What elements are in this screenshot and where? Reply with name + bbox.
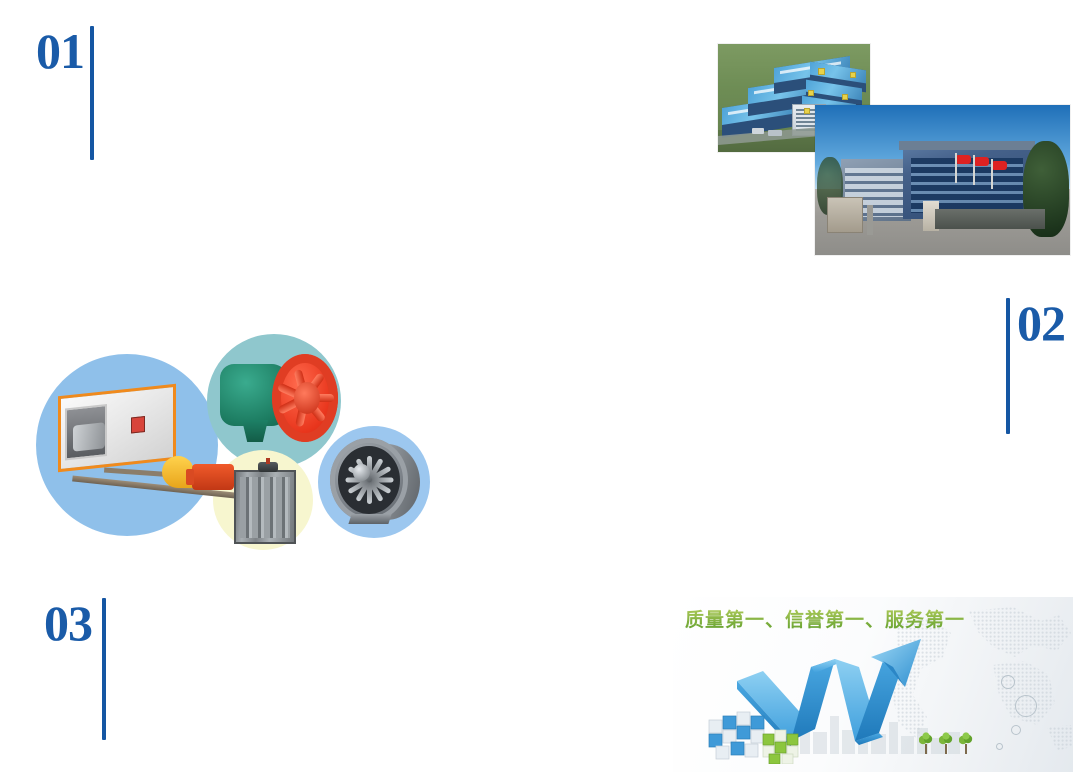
product-box-type-centrifugal-fan bbox=[44, 372, 214, 512]
render-tank-5 bbox=[804, 108, 810, 114]
render-tank-3 bbox=[808, 90, 814, 96]
tree-icon-1 bbox=[919, 732, 933, 754]
photo-lamp-post bbox=[867, 205, 873, 235]
damper-actuator bbox=[258, 462, 278, 472]
metal-fan-blade-disc bbox=[338, 446, 400, 514]
growth-banner: 质量第一、信誉第一、服务第一 bbox=[673, 597, 1073, 772]
axial-fan-hub bbox=[294, 382, 320, 414]
section-number-03: 03 bbox=[44, 598, 92, 648]
tree-icon-3 bbox=[959, 732, 973, 754]
axial-fan-mount bbox=[242, 420, 268, 442]
box-fan-cabinet bbox=[58, 384, 176, 472]
box-fan-impeller bbox=[73, 422, 105, 451]
section-marker-01: 01 bbox=[36, 26, 94, 160]
section-number-02: 02 bbox=[1017, 298, 1065, 348]
section-rule-03 bbox=[102, 598, 106, 740]
render-truck-1 bbox=[752, 128, 764, 134]
damper-blades bbox=[240, 477, 290, 538]
box-fan-control-panel bbox=[131, 416, 145, 433]
product-cluster bbox=[30, 322, 422, 548]
photo-boundary-wall bbox=[935, 209, 1045, 229]
photo-flag-3 bbox=[991, 159, 993, 189]
green-cube-stack-icon bbox=[761, 724, 801, 764]
bubble-icon-1 bbox=[1001, 675, 1015, 689]
section-marker-02: 02 bbox=[1006, 298, 1065, 434]
photo-guard-house bbox=[827, 197, 863, 233]
render-tank-4 bbox=[842, 94, 848, 100]
photo-flag-2 bbox=[973, 155, 975, 185]
metal-fan-foot bbox=[348, 514, 391, 524]
damper-frame bbox=[234, 470, 296, 544]
photo-flag-1 bbox=[955, 153, 957, 183]
product-metal-axial-fan bbox=[330, 438, 422, 528]
box-fan-inlet bbox=[65, 404, 107, 460]
section-marker-03: 03 bbox=[44, 598, 106, 740]
tree-icon-2 bbox=[939, 732, 953, 754]
growth-slogan: 质量第一、信誉第一、服务第一 bbox=[685, 605, 965, 632]
product-fire-damper bbox=[234, 462, 296, 544]
bubble-icon-3 bbox=[1011, 725, 1021, 735]
blue-cube-stack-icon bbox=[707, 698, 769, 760]
metal-fan-ring bbox=[330, 438, 408, 522]
bubble-icon-4 bbox=[996, 743, 1003, 750]
section-number-01: 01 bbox=[36, 26, 84, 76]
render-truck-2 bbox=[768, 130, 782, 136]
render-tank-2 bbox=[850, 72, 856, 78]
photo-building-cornice bbox=[899, 141, 1035, 150]
page-root: 01 bbox=[0, 0, 1074, 772]
section-rule-01 bbox=[90, 26, 94, 160]
office-building-photo bbox=[815, 105, 1070, 255]
metal-fan-hub bbox=[353, 464, 370, 481]
product-axial-flow-fan bbox=[220, 346, 338, 458]
render-tank-1 bbox=[818, 68, 825, 75]
bubble-icon-2 bbox=[1015, 695, 1037, 717]
section-rule-02 bbox=[1006, 298, 1010, 434]
box-fan-motor bbox=[192, 464, 234, 490]
